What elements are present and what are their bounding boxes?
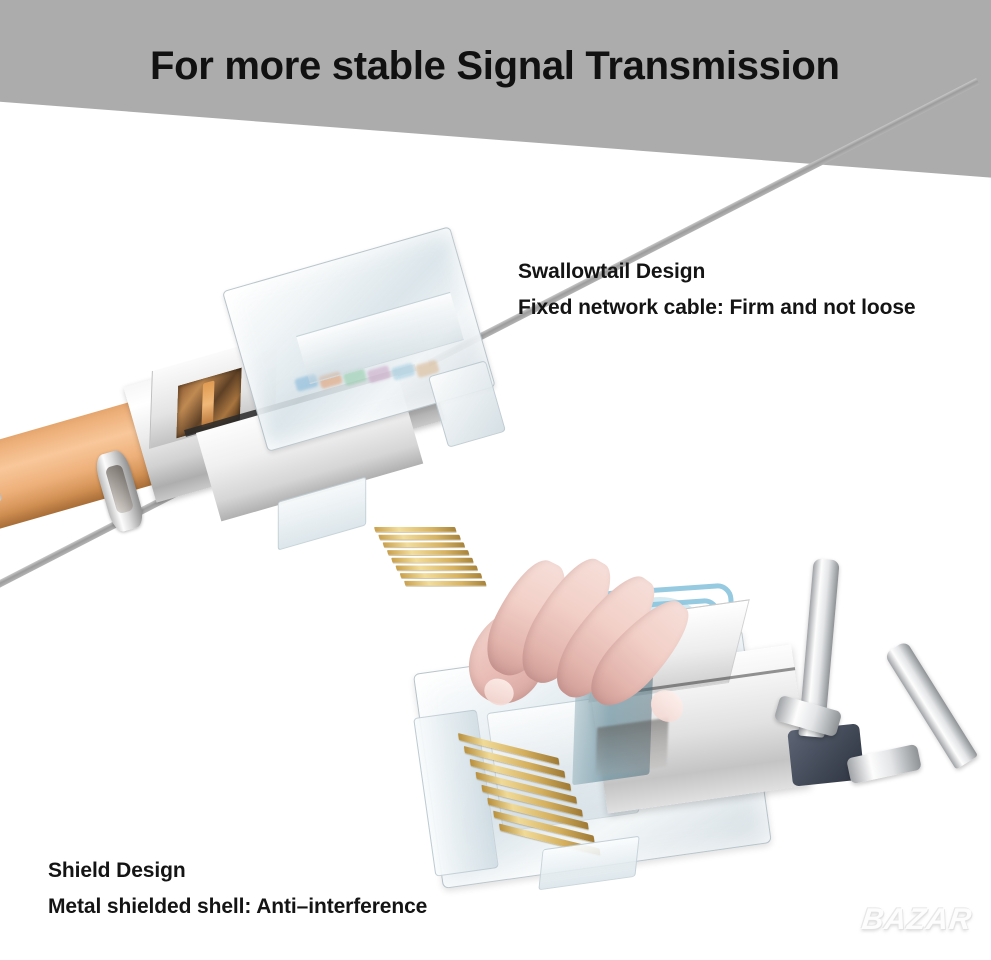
callout-shield-heading: Shield Design: [48, 859, 427, 883]
inner-wire: [201, 380, 214, 427]
bazar-watermark: BAZAR: [860, 903, 974, 937]
rj45-nose: [428, 360, 506, 448]
metal-shield-reflection: [595, 718, 668, 777]
specular-highlight: [296, 588, 359, 641]
page-title: For more stable Signal Transmission: [150, 44, 840, 89]
callout-swallowtail-description: Fixed network cable: Firm and not loose: [518, 296, 916, 320]
product-marketing-image: For more stable Signal Transmission: [0, 0, 991, 960]
hand-holding-shell: [472, 551, 702, 721]
callout-swallowtail: Swallowtail Design Fixed network cable: …: [518, 260, 916, 320]
callout-shield: Shield Design Metal shielded shell: Anti…: [48, 859, 427, 919]
photo-swallowtail-connector: [0, 255, 520, 585]
callout-swallowtail-heading: Swallowtail Design: [518, 260, 916, 284]
callout-shield-description: Metal shielded shell: Anti–interference: [48, 895, 427, 919]
photo-shield-connector: [420, 555, 991, 960]
header-banner: [0, 0, 991, 185]
